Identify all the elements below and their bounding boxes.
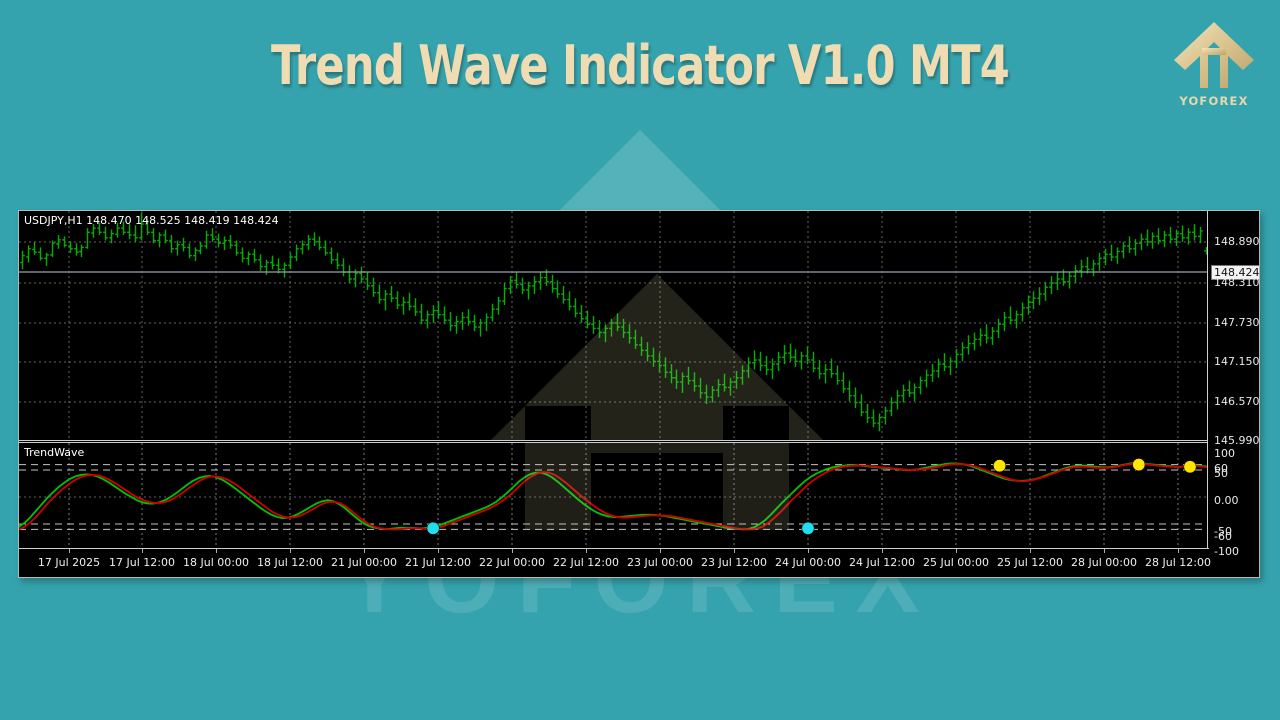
price-plot bbox=[19, 211, 1209, 441]
axis-tick-label: 145.990 bbox=[1214, 434, 1260, 447]
time-axis-tick bbox=[956, 549, 957, 553]
time-axis-label: 24 Jul 00:00 bbox=[775, 556, 841, 569]
trendwave-indicator-pane[interactable]: TrendWave bbox=[19, 442, 1209, 550]
page-title: Trend Wave Indicator V1.0 MT4 bbox=[128, 34, 1152, 97]
time-axis-label: 21 Jul 12:00 bbox=[405, 556, 471, 569]
mt4-chart-window[interactable]: USDJPY,H1 148.470 148.525 148.419 148.42… bbox=[18, 210, 1260, 578]
signal-dot-sell bbox=[1184, 461, 1196, 473]
yoforex-arrow-house-icon bbox=[1168, 18, 1260, 92]
signal-dot-buy bbox=[802, 522, 814, 534]
time-axis-tick bbox=[438, 549, 439, 553]
time-axis-tick bbox=[1030, 549, 1031, 553]
signal-dot-sell bbox=[993, 460, 1005, 472]
time-axis-label: 21 Jul 00:00 bbox=[331, 556, 397, 569]
axis-tick-label: 146.570 bbox=[1214, 395, 1260, 408]
time-axis-tick bbox=[364, 549, 365, 553]
page-header: Trend Wave Indicator V1.0 MT4 YOFOREX bbox=[0, 0, 1280, 130]
time-axis-label: 28 Jul 12:00 bbox=[1145, 556, 1211, 569]
price-chart-pane[interactable]: USDJPY,H1 148.470 148.525 148.419 148.42… bbox=[19, 211, 1209, 441]
time-axis-tick bbox=[142, 549, 143, 553]
brand-logo: YOFOREX bbox=[1168, 18, 1260, 110]
time-axis-label: 28 Jul 00:00 bbox=[1071, 556, 1137, 569]
ohlc-header-label: USDJPY,H1 148.470 148.525 148.419 148.42… bbox=[24, 214, 279, 227]
time-axis-tick bbox=[69, 549, 70, 553]
axis-tick-label: 147.730 bbox=[1214, 316, 1260, 329]
time-axis-tick bbox=[586, 549, 587, 553]
time-axis-tick bbox=[808, 549, 809, 553]
signal-dot-buy bbox=[427, 522, 439, 534]
time-axis-tick bbox=[1178, 549, 1179, 553]
time-axis-label: 23 Jul 00:00 bbox=[627, 556, 693, 569]
time-axis-tick bbox=[290, 549, 291, 553]
indicator-name-label: TrendWave bbox=[24, 446, 84, 459]
time-axis-label: 22 Jul 12:00 bbox=[553, 556, 619, 569]
time-axis-label: 25 Jul 12:00 bbox=[997, 556, 1063, 569]
time-axis-tick bbox=[1104, 549, 1105, 553]
time-axis-label: 18 Jul 00:00 bbox=[183, 556, 249, 569]
time-axis-label: 17 Jul 2025 bbox=[38, 556, 100, 569]
time-axis-tick bbox=[660, 549, 661, 553]
time-axis-tick bbox=[216, 549, 217, 553]
axis-tick-label: 147.150 bbox=[1214, 355, 1260, 368]
axis-tick-label: 148.310 bbox=[1214, 276, 1260, 289]
time-axis-tick bbox=[882, 549, 883, 553]
axis-tick-label: -100 bbox=[1214, 545, 1239, 558]
price-scale-axis[interactable]: 148.890148.424148.310147.730147.150146.5… bbox=[1207, 211, 1259, 577]
indicator-plot bbox=[19, 443, 1209, 550]
time-axis-label: 24 Jul 12:00 bbox=[849, 556, 915, 569]
time-scale-axis[interactable]: 17 Jul 202517 Jul 12:0018 Jul 00:0018 Ju… bbox=[19, 548, 1209, 577]
axis-tick-label: -60 bbox=[1214, 530, 1232, 543]
time-axis-label: 22 Jul 00:00 bbox=[479, 556, 545, 569]
axis-tick-label: 50 bbox=[1214, 467, 1228, 480]
axis-tick-label: 148.890 bbox=[1214, 235, 1260, 248]
signal-dot-sell bbox=[1133, 458, 1145, 470]
time-axis-tick bbox=[734, 549, 735, 553]
time-axis-tick bbox=[512, 549, 513, 553]
time-axis-label: 25 Jul 00:00 bbox=[923, 556, 989, 569]
axis-tick-label: 100 bbox=[1214, 447, 1235, 460]
time-axis-label: 23 Jul 12:00 bbox=[701, 556, 767, 569]
time-axis-label: 18 Jul 12:00 bbox=[257, 556, 323, 569]
time-axis-label: 17 Jul 12:00 bbox=[109, 556, 175, 569]
axis-tick-label: 0.00 bbox=[1214, 494, 1239, 507]
brand-name: YOFOREX bbox=[1168, 94, 1260, 108]
